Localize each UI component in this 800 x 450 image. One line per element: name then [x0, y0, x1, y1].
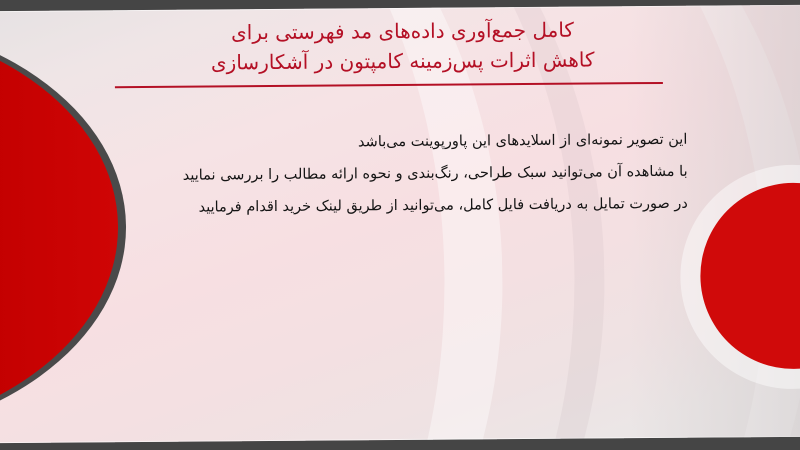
title-underline-rule — [115, 82, 663, 88]
body-line-2: با مشاهده آن می‌توانید سبک طراحی، رنگ‌بن… — [131, 156, 687, 192]
presentation-slide: کامل جمع‌آوری داده‌های مد فهرستی برای کا… — [0, 0, 800, 450]
body-line-1: این تصویر نمونه‌ای از اسلایدهای این پاور… — [131, 124, 687, 160]
slide-body-text: این تصویر نمونه‌ای از اسلایدهای این پاور… — [131, 124, 688, 224]
slide-title: کامل جمع‌آوری داده‌های مد فهرستی برای کا… — [126, 14, 678, 78]
slide-title-line-2: کاهش اثرات پس‌زمینه کامپتون در آشکارسازی — [127, 44, 679, 78]
slide-title-line-1: کامل جمع‌آوری داده‌های مد فهرستی برای — [126, 14, 678, 48]
slide-content-plate: کامل جمع‌آوری داده‌های مد فهرستی برای کا… — [0, 5, 800, 443]
body-line-3: در صورت تمایل به دریافت فایل کامل، می‌تو… — [132, 188, 688, 224]
slide-text-content: کامل جمع‌آوری داده‌های مد فهرستی برای کا… — [0, 5, 800, 443]
